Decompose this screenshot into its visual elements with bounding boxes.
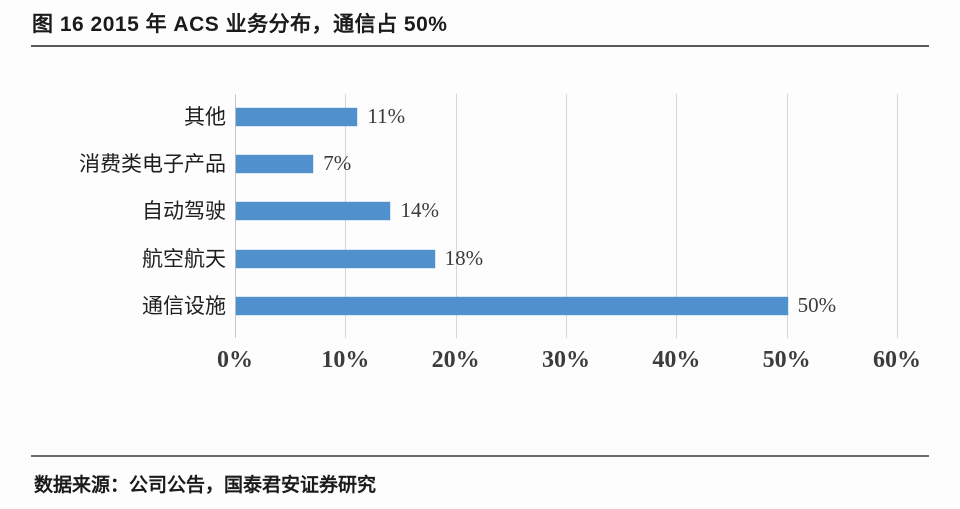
x-tick-label: 30% xyxy=(542,347,590,374)
bar-value-label: 18% xyxy=(445,249,484,267)
bar[interactable] xyxy=(236,155,313,173)
x-axis-tick-labels: 0%10%20%30%40%50%60% xyxy=(235,347,897,379)
page-title: 图 16 2015 年 ACS 业务分布，通信占 50% xyxy=(32,10,922,40)
bar-value-label: 7% xyxy=(323,154,351,172)
x-tick-label: 20% xyxy=(432,347,480,374)
bar-chart: 通信设施航空航天自动驾驶消费类电子产品其他 50%18%14%7%11% 0%1… xyxy=(0,55,960,385)
x-tick-label: 50% xyxy=(763,347,811,374)
x-tick-label: 0% xyxy=(217,347,253,374)
bar[interactable] xyxy=(236,297,788,315)
category-label: 航空航天 xyxy=(6,248,226,270)
category-label: 通信设施 xyxy=(6,295,226,317)
bar[interactable] xyxy=(236,250,435,268)
x-tick-label: 40% xyxy=(652,347,700,374)
gridline xyxy=(897,94,898,338)
plot-area: 50%18%14%7%11% xyxy=(235,94,897,330)
x-tick-label: 60% xyxy=(873,347,921,374)
bar[interactable] xyxy=(236,202,390,220)
x-tick-label: 10% xyxy=(321,347,369,374)
bar[interactable] xyxy=(236,108,357,126)
figure-container: 图 16 2015 年 ACS 业务分布，通信占 50% 通信设施航空航天自动驾… xyxy=(0,0,960,509)
category-label: 消费类电子产品 xyxy=(6,153,226,175)
source-note: 数据来源：公司公告，国泰君安证券研究 xyxy=(34,470,376,497)
title-divider xyxy=(31,45,929,47)
category-label: 其他 xyxy=(6,106,226,128)
bar-value-label: 14% xyxy=(400,201,439,219)
y-axis-category-labels: 通信设施航空航天自动驾驶消费类电子产品其他 xyxy=(0,94,226,334)
bar-value-label: 50% xyxy=(798,296,837,314)
category-label: 自动驾驶 xyxy=(6,200,226,222)
bar-value-label: 11% xyxy=(367,107,405,125)
footer-divider xyxy=(31,455,929,457)
